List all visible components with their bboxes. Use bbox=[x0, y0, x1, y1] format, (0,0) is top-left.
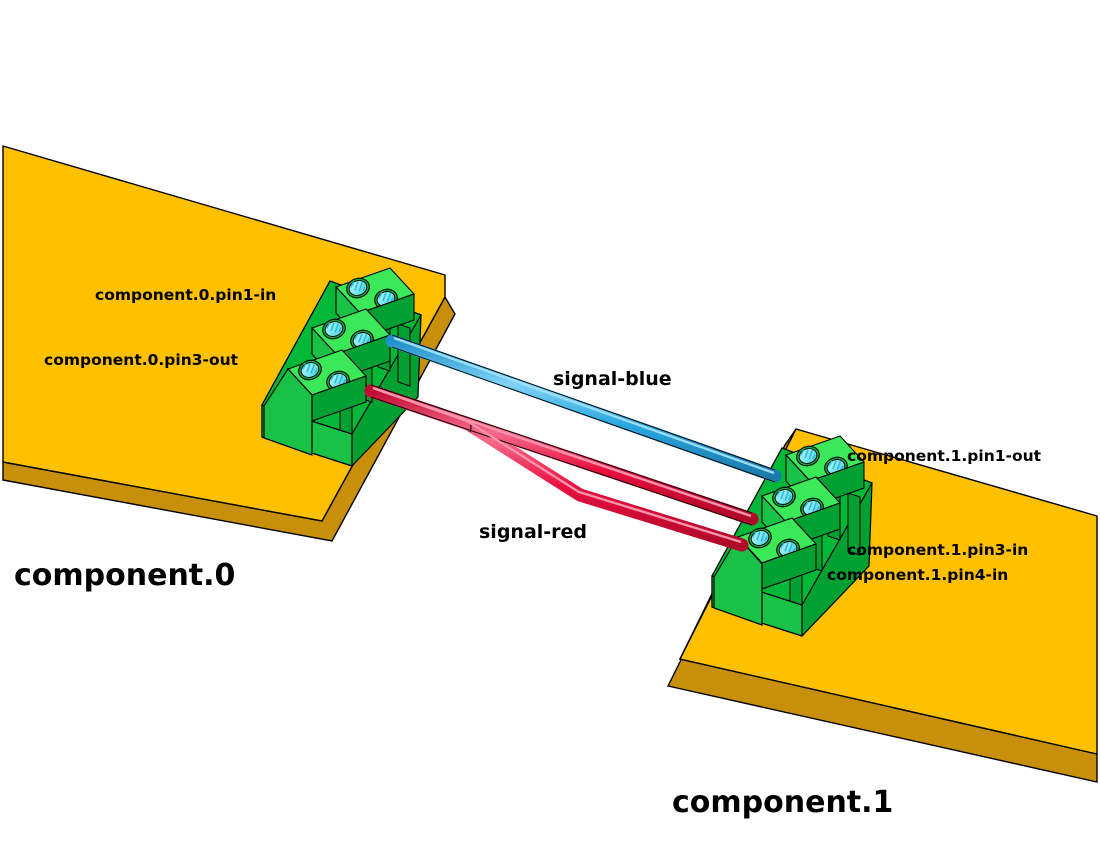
label-component-0-pin1-in: component.0.pin1-in bbox=[95, 286, 276, 304]
label-component-1-pin3-in: component.1.pin3-in bbox=[847, 541, 1028, 559]
label-component-0: component.0 bbox=[14, 558, 235, 593]
wire-blue-highlight bbox=[394, 338, 774, 473]
wire-red-branch-1-core bbox=[371, 391, 752, 519]
wiring-diagram-svg: component.0.pin1-in component.0.pin3-out… bbox=[0, 0, 1100, 850]
label-signal-blue: signal-blue bbox=[553, 368, 672, 390]
wire-red-branch-1-outline-bottom bbox=[371, 397, 752, 525]
label-component-1: component.1 bbox=[672, 785, 893, 820]
label-component-1-pin4-in: component.1.pin4-in bbox=[827, 566, 1008, 584]
label-component-0-pin3-out: component.0.pin3-out bbox=[44, 351, 239, 369]
label-component-1-pin1-out: component.1.pin1-out bbox=[847, 447, 1042, 465]
wire-blue-outline-top bbox=[392, 335, 775, 470]
label-signal-red: signal-red bbox=[479, 521, 587, 543]
diagram-canvas: component.0.pin1-in component.0.pin3-out… bbox=[0, 0, 1100, 850]
